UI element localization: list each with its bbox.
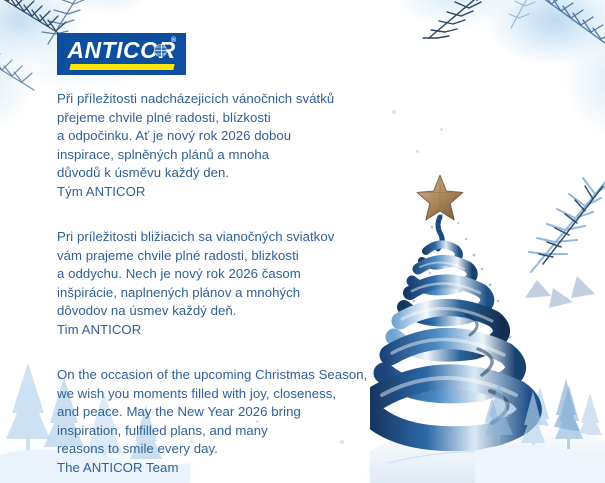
message-line: On the occasion of the upcoming Christma…	[57, 366, 402, 385]
message-line: a oddychu. Nech je nový rok 2026 časom	[57, 265, 402, 284]
anticor-logo: ANTICOR ®	[57, 33, 186, 75]
registered-trademark-icon: ®	[171, 37, 177, 44]
message-line: Pri príležitosti bližiacich sa vianočnýc…	[57, 228, 402, 247]
message-line: a odpočinku. Ať je nový rok 2026 dobou	[57, 127, 402, 146]
message-line: důvodů k úsměvu každý den.	[57, 164, 402, 183]
message-block-en: On the occasion of the upcoming Christma…	[57, 366, 402, 477]
message-line: vám prajeme chvile plné radosti, blizkos…	[57, 247, 402, 266]
message-line: reasons to smile every day.	[57, 440, 402, 459]
logo-yellow-bar	[69, 64, 174, 70]
message-line: Při příležitosti nadcházejicích vánočnic…	[57, 90, 402, 109]
snow-speck	[440, 128, 443, 131]
message-line: dôvodov na úsmev každý deň.	[57, 302, 402, 321]
message-line: přejeme chvile plné radosti, blízkosti	[57, 109, 402, 128]
globe-icon	[154, 44, 167, 57]
christmas-tree-illustration	[370, 165, 605, 483]
message-line: inšpirácie, naplnených plánov a mnohých	[57, 284, 402, 303]
greeting-card: ANTICOR ® Při příležitosti nadcházejicíc…	[0, 0, 605, 483]
message-signature: The ANTICOR Team	[57, 459, 402, 478]
message-signature: Tim ANTICOR	[57, 321, 402, 340]
message-line: we wish you moments filled with joy, clo…	[57, 385, 402, 404]
logo-wordmark: ANTICOR ®	[67, 39, 175, 62]
greeting-messages: Při příležitosti nadcházejicích vánočnic…	[57, 90, 402, 477]
snow-speck	[416, 150, 419, 153]
message-block-sk: Pri príležitosti bližiacich sa vianočnýc…	[57, 228, 402, 339]
message-signature: Tým ANTICOR	[57, 183, 402, 202]
message-block-cs: Při příležitosti nadcházejicích vánočnic…	[57, 90, 402, 201]
pine-branch-top-right-icon	[385, 0, 605, 109]
message-line: and peace. May the New Year 2026 bring	[57, 403, 402, 422]
message-line: inspiration, fulfilled plans, and many	[57, 422, 402, 441]
star-topper	[417, 175, 463, 220]
message-line: inspirace, splněných plánů a mnoha	[57, 146, 402, 165]
